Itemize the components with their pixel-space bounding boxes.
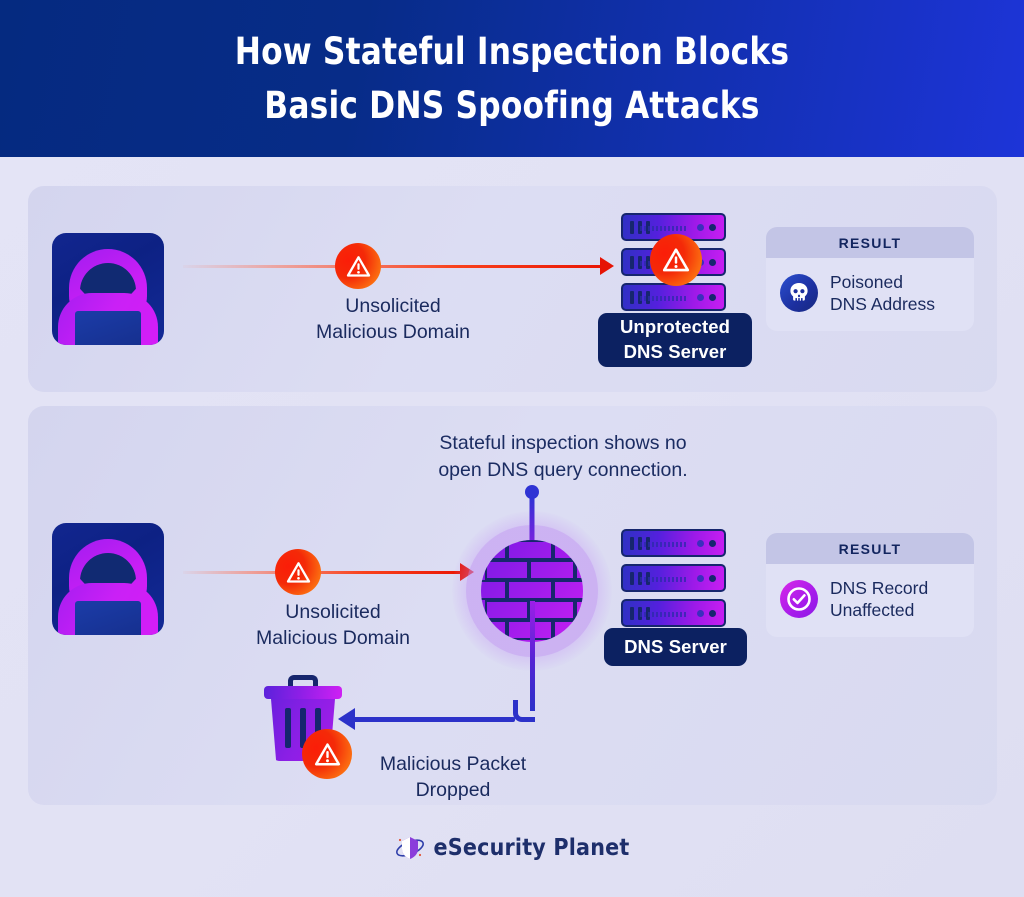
laptop-shape	[75, 601, 141, 635]
result-card-unaffected: RESULT DNS Record Unaffected	[766, 533, 974, 637]
attack-arrow-head	[600, 257, 614, 275]
rack-unit	[621, 599, 726, 627]
attack-arrow-line	[183, 265, 601, 268]
flow-label-line-1: Unsolicited	[233, 294, 553, 320]
note-line-2: open DNS query connection.	[353, 457, 773, 484]
result-body: Poisoned DNS Address	[766, 258, 974, 331]
server-warning-triangle-icon	[650, 234, 702, 286]
warning-triangle-icon	[335, 243, 381, 289]
attack-flow-label: Unsolicited Malicious Domain	[233, 294, 553, 346]
check-circle-icon	[780, 580, 818, 618]
scenario-panel-protected: Stateful inspection shows no open DNS qu…	[28, 406, 997, 805]
rack-indicators	[697, 294, 716, 301]
attack-arrow-line	[183, 571, 461, 574]
stateful-inspection-note: Stateful inspection shows no open DNS qu…	[353, 430, 773, 483]
dropped-label-line-1: Malicious Packet	[303, 752, 603, 778]
server-label-line-1: Unprotected	[620, 315, 730, 340]
rack-mesh	[640, 612, 686, 617]
rack-unit	[621, 529, 726, 557]
drop-path-vertical	[530, 601, 535, 711]
note-line-1: Stateful inspection shows no	[353, 430, 773, 457]
result-card-poisoned: RESULT Poisoned DNS Address	[766, 227, 974, 331]
result-text: DNS Record Unaffected	[830, 577, 928, 622]
brick-row	[481, 560, 583, 580]
warning-triangle-icon	[275, 549, 321, 595]
result-heading: RESULT	[766, 227, 974, 258]
brand-name: eSecurity Planet	[434, 835, 630, 861]
title-line-2: Basic DNS Spoofing Attacks	[235, 79, 789, 133]
rack-unit	[621, 564, 726, 592]
flow-label-line-2: Malicious Domain	[173, 626, 493, 652]
result-text-line-2: DNS Address	[830, 293, 935, 315]
laptop-shape	[75, 311, 141, 345]
hacker-icon	[52, 233, 164, 345]
brick-row	[481, 580, 583, 600]
hacker-icon	[52, 523, 164, 635]
rack-mesh	[640, 542, 686, 547]
rack-indicators	[697, 610, 716, 617]
result-text: Poisoned DNS Address	[830, 271, 935, 316]
result-text-line-1: Poisoned	[830, 271, 935, 293]
trash-lid	[264, 686, 342, 699]
firewall-pin-icon	[525, 485, 539, 499]
attack-flow-label: Unsolicited Malicious Domain	[173, 600, 493, 652]
result-heading: RESULT	[766, 533, 974, 564]
drop-path-horizontal	[353, 717, 515, 722]
dropped-label-line-2: Dropped	[303, 778, 603, 804]
footer-brand: eSecurity Planet	[0, 833, 1024, 863]
malicious-packet-dropped-label: Malicious Packet Dropped	[303, 752, 603, 804]
rack-indicators	[697, 575, 716, 582]
server-label-line-2: DNS Server	[624, 340, 727, 365]
server-rack-icon	[621, 529, 726, 634]
unprotected-dns-server-label: Unprotected DNS Server	[598, 313, 752, 367]
rack-indicators	[697, 540, 716, 547]
drop-path-corner	[513, 700, 535, 722]
scenario-panel-unprotected: Unsolicited Malicious Domain Unprotect	[28, 186, 997, 392]
flow-label-line-2: Malicious Domain	[233, 320, 553, 346]
rack-mesh	[640, 577, 686, 582]
rack-unit	[621, 283, 726, 311]
dns-server-label: DNS Server	[604, 628, 747, 666]
result-body: DNS Record Unaffected	[766, 564, 974, 637]
title-line-1: How Stateful Inspection Blocks	[235, 30, 789, 73]
rack-mesh	[640, 226, 686, 231]
rack-indicators	[697, 224, 716, 231]
shield-planet-logo	[395, 833, 425, 863]
firewall-stem	[530, 497, 535, 545]
flow-label-line-1: Unsolicited	[173, 600, 493, 626]
infographic-header: How Stateful Inspection Blocks Basic DNS…	[0, 0, 1024, 157]
result-text-line-1: DNS Record	[830, 577, 928, 599]
page-title: How Stateful Inspection Blocks Basic DNS…	[235, 25, 789, 132]
result-text-line-2: Unaffected	[830, 599, 928, 621]
skull-icon	[780, 274, 818, 312]
brick-row	[481, 540, 583, 560]
rack-mesh	[640, 296, 686, 301]
